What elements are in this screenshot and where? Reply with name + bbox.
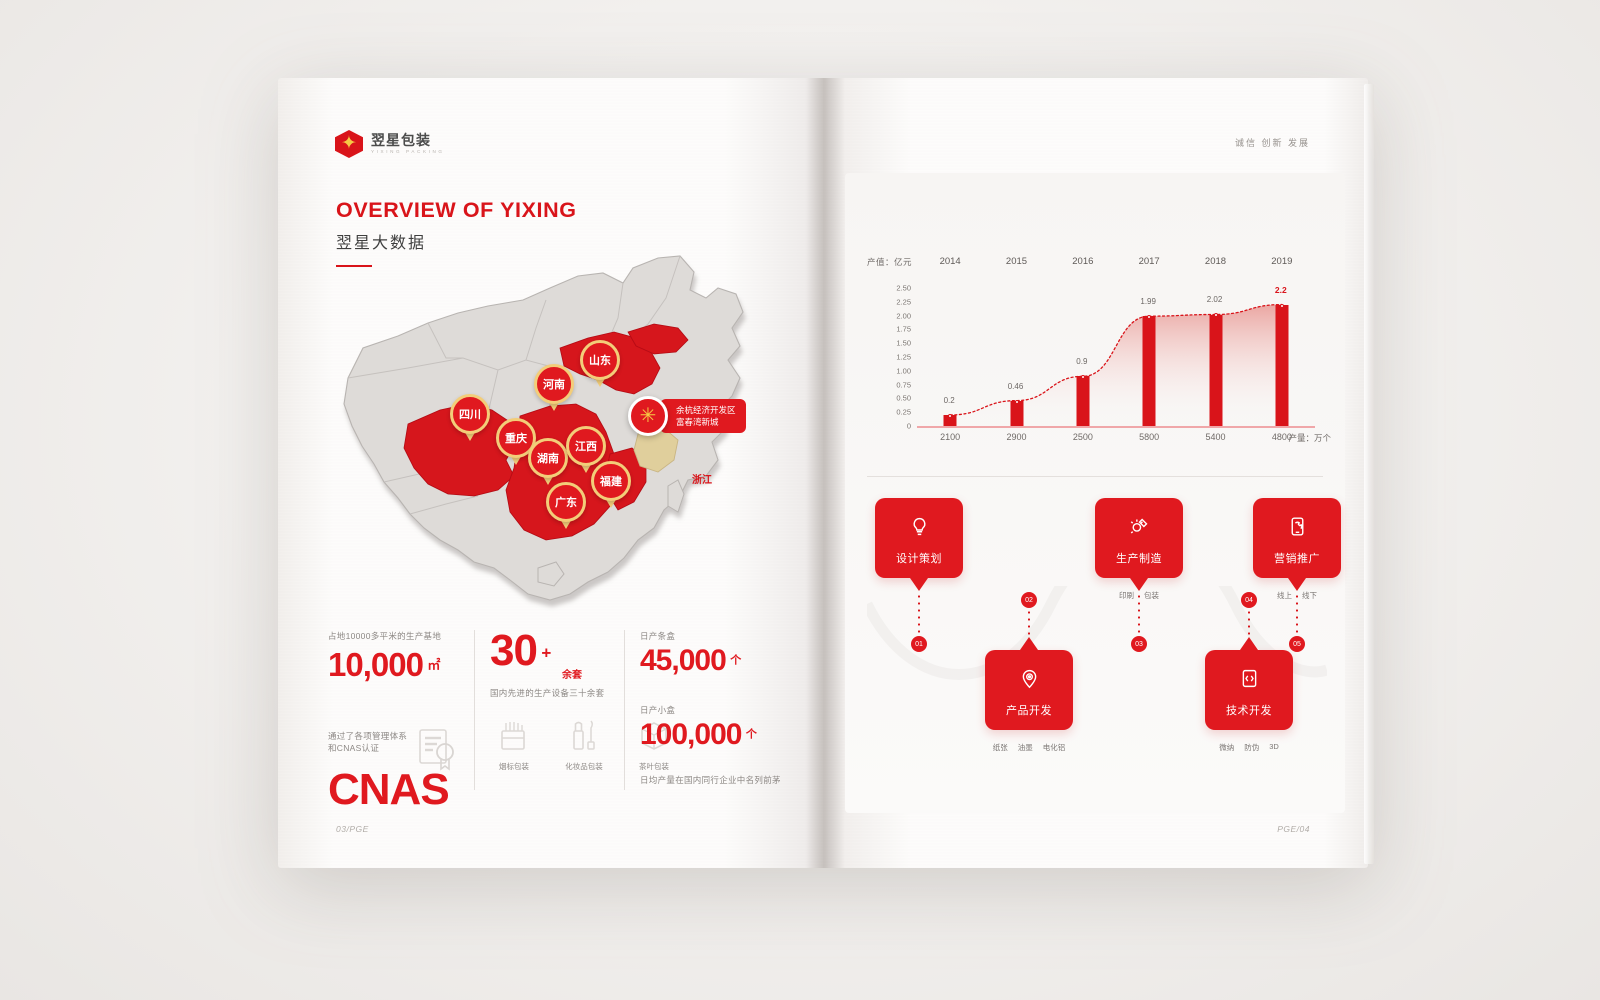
chart-bar-2015 xyxy=(1010,401,1023,426)
right-page: 诚信 创新 发展 产值：亿元 201420152016201720182019 … xyxy=(823,78,1368,868)
flow-connector xyxy=(1138,593,1140,637)
chart-ytick: 1.75 xyxy=(896,325,911,334)
china-map: 浙江 山东河南四川重庆湖南江西福建广东 ✳ 余杭经济开发区 富春湾新城 xyxy=(288,228,823,678)
chart-plot-area: 2.502.252.001.751.501.251.000.750.500.25… xyxy=(917,288,1315,426)
chart-value-label: 2.02 xyxy=(1207,295,1223,304)
stat-smallbox-caption: 日均产量在国内同行企业中名列前茅 xyxy=(640,774,800,786)
pin-label: 山东 xyxy=(589,352,611,368)
stat-smallbox-unit: 个 xyxy=(746,729,756,741)
flow-card-title: 产品开发 xyxy=(1006,702,1052,718)
pin-label: 河南 xyxy=(543,376,565,392)
stat-smallbox-value: 100,000 xyxy=(640,718,741,751)
pin-bubble: 江西 xyxy=(566,426,606,466)
code-document-icon xyxy=(1239,668,1260,695)
flow-card-03[interactable]: 生产制造 xyxy=(1095,498,1183,578)
pin-label: 福建 xyxy=(600,473,622,489)
stat-carton-value: 45,000 xyxy=(640,644,726,677)
product-label: 化妆品包装 xyxy=(560,761,608,772)
chart-ytick: 0 xyxy=(907,422,911,431)
flow-tag: 线上 xyxy=(1277,590,1292,601)
stat-equipment-caption: 国内先进的生产设备三十余套 xyxy=(490,687,620,699)
chart-point xyxy=(1081,375,1085,379)
pin-bubble: 湖南 xyxy=(528,438,568,478)
pin-label: 江西 xyxy=(575,438,597,454)
chart-year-2014: 2014 xyxy=(940,256,961,267)
chart-value-label: 0.46 xyxy=(1008,382,1024,391)
chart-ytick: 1.50 xyxy=(896,339,911,348)
left-page: ✦ 翌星包装 YIXING PACKING OVERVIEW OF YIXING… xyxy=(278,78,823,868)
flow-tag: 包装 xyxy=(1144,590,1159,601)
brand-name-cn: 翌星包装 xyxy=(371,133,445,147)
chart-ytick: 2.25 xyxy=(896,297,911,306)
chart-value-label: 0.9 xyxy=(1076,357,1087,366)
chart-point xyxy=(1214,313,1218,317)
chart-ytick: 1.00 xyxy=(896,366,911,375)
chart-ytick: 0.75 xyxy=(896,380,911,389)
chart-bar-2016 xyxy=(1076,376,1089,426)
map-pin-6[interactable]: 福建 xyxy=(591,461,631,501)
flow-card-05[interactable]: 营销推广 xyxy=(1253,498,1341,578)
chart-value-label: 0.2 xyxy=(944,396,955,405)
magazine-spread: ✦ 翌星包装 YIXING PACKING OVERVIEW OF YIXING… xyxy=(278,78,1368,868)
chart-value-label: 2.2 xyxy=(1275,285,1287,295)
chart-year-2019: 2019 xyxy=(1271,256,1292,267)
flow-step-number-03: 03 xyxy=(1131,636,1147,652)
target-pin-icon xyxy=(1019,668,1040,695)
chart-xlabel: 产量：万个 xyxy=(1288,432,1331,444)
flow-card-tags: 纸张油墨电化铝 xyxy=(993,742,1066,753)
page-number-left: 03/PGE xyxy=(336,824,369,834)
cigarette-pack-icon xyxy=(497,718,531,752)
stat-carton-kicker: 日产条盒 xyxy=(640,630,800,642)
map-pin-5[interactable]: 江西 xyxy=(566,426,606,466)
chart-year-2018: 2018 xyxy=(1205,256,1226,267)
flow-step-number-04: 04 xyxy=(1241,592,1257,608)
pin-label: 湖南 xyxy=(537,450,559,466)
flow-card-title: 设计策划 xyxy=(896,550,942,566)
flow-tag: 印刷 xyxy=(1119,590,1134,601)
pin-bubble: 广东 xyxy=(546,482,586,522)
cnas-badge: CNAS xyxy=(328,768,449,812)
flow-card-title: 技术开发 xyxy=(1226,702,1272,718)
page-edge xyxy=(1364,84,1374,864)
map-pin-4[interactable]: 湖南 xyxy=(528,438,568,478)
map-pin-7[interactable]: 广东 xyxy=(546,482,586,522)
pin-bubble: 四川 xyxy=(450,394,490,434)
tagline: 诚信 创新 发展 xyxy=(1235,136,1310,149)
chart-value-label: 1.99 xyxy=(1140,297,1156,306)
lightbulb-icon xyxy=(909,516,930,543)
chart-year-2017: 2017 xyxy=(1139,256,1160,267)
province-label-zhejiang: 浙江 xyxy=(692,471,712,486)
chart-quantity-2018: 5400 xyxy=(1205,432,1225,442)
certificate-seal-icon xyxy=(414,726,460,772)
chart-quantity-2017: 5800 xyxy=(1139,432,1159,442)
flow-tag: 油墨 xyxy=(1018,742,1033,753)
brand-logo: ✦ 翌星包装 YIXING PACKING xyxy=(335,130,445,158)
pin-label: 重庆 xyxy=(505,430,527,446)
stat-equipment-value: 30 xyxy=(490,626,537,675)
chart-axis xyxy=(917,426,1315,428)
chart-point xyxy=(1280,304,1284,308)
flow-tag: 防伪 xyxy=(1244,742,1259,753)
product-item: 化妆品包装 xyxy=(560,718,608,772)
stat-daily: 日产条盒 45,000 个 日产小盒 100,000 个 日均产量在国内同行企业… xyxy=(640,630,800,786)
stat-carton-unit: 个 xyxy=(730,655,740,667)
pin-label: 广东 xyxy=(555,494,577,510)
stat-area-kicker: 占地10000多平米的生产基地 xyxy=(328,630,468,642)
chart-bar-2017 xyxy=(1143,316,1156,426)
process-flow: 设计策划01产品开发纸张油墨电化铝02生产制造印刷包装03技术开发微纳防伪3D0… xyxy=(867,498,1327,798)
brand-name-en: YIXING PACKING xyxy=(371,150,445,155)
stat-equipment: 30 + 余套 国内先进的生产设备三十余套 xyxy=(490,630,620,699)
flow-step-number-01: 01 xyxy=(911,636,927,652)
chart-year-2015: 2015 xyxy=(1006,256,1027,267)
chart-ylabel: 产值：亿元 xyxy=(867,256,912,268)
hq-label-line1: 余杭经济开发区 xyxy=(676,404,736,416)
flow-card-01[interactable]: 设计策划 xyxy=(875,498,963,578)
chart-ytick: 0.50 xyxy=(896,394,911,403)
pin-label: 四川 xyxy=(459,406,481,422)
hq-label: 余杭经济开发区 富春湾新城 xyxy=(660,399,746,434)
hq-marker[interactable]: ✳ 余杭经济开发区 富春湾新城 xyxy=(628,396,746,436)
chart-trend-area xyxy=(917,288,1315,426)
chart-ytick: 2.00 xyxy=(896,311,911,320)
chart-point xyxy=(1147,315,1151,319)
chart-bar-2019 xyxy=(1275,305,1288,426)
stat-area: 占地10000多平米的生产基地 10,000 ㎡ 通过了各项管理体系 和CNAS… xyxy=(328,630,468,684)
flow-connector xyxy=(1296,593,1298,637)
flow-connector xyxy=(1248,602,1250,646)
flow-tag: 微纳 xyxy=(1219,742,1234,753)
gear-tools-icon xyxy=(1129,516,1150,543)
lipstick-icon xyxy=(567,718,601,752)
pin-bubble: 河南 xyxy=(534,364,574,404)
chart-ytick: 0.25 xyxy=(896,408,911,417)
chart-quantity-2016: 2500 xyxy=(1073,432,1093,442)
star-burst-icon: ✳ xyxy=(628,396,668,436)
hq-label-line2: 富春湾新城 xyxy=(676,416,736,428)
flow-card-tags: 微纳防伪3D xyxy=(1219,742,1279,753)
stat-equipment-plus: + xyxy=(541,644,550,663)
flow-card-title: 生产制造 xyxy=(1116,550,1162,566)
chart-point xyxy=(948,414,952,418)
flow-card-title: 营销推广 xyxy=(1274,550,1320,566)
page-number-right: PGE/04 xyxy=(1277,824,1310,834)
map-pin-1[interactable]: 河南 xyxy=(534,364,574,404)
flow-step-number-05: 05 xyxy=(1289,636,1305,652)
stat-area-value: 10,000 xyxy=(328,646,423,683)
flow-card-notch xyxy=(910,578,928,591)
flow-card-02[interactable]: 产品开发 xyxy=(985,650,1073,730)
stats-divider-1 xyxy=(474,630,475,790)
phone-call-icon xyxy=(1287,516,1308,543)
flow-connector xyxy=(918,593,920,637)
page-title-en: OVERVIEW OF YIXING xyxy=(336,198,577,223)
chart-ytick: 1.25 xyxy=(896,353,911,362)
chart-quantity-2015: 2900 xyxy=(1006,432,1026,442)
flow-tag: 3D xyxy=(1269,742,1279,753)
flow-connector xyxy=(1028,602,1030,646)
production-chart: 产值：亿元 201420152016201720182019 2.502.252… xyxy=(867,256,1327,461)
flow-tag: 电化铝 xyxy=(1043,742,1066,753)
chart-bar-2018 xyxy=(1209,315,1222,427)
product-item: 烟标包装 xyxy=(490,718,538,772)
map-pin-0[interactable]: 山东 xyxy=(580,340,620,380)
product-label: 烟标包装 xyxy=(490,761,538,772)
pin-bubble: 福建 xyxy=(591,461,631,501)
chart-point xyxy=(1015,400,1019,404)
chart-quantity-2014: 2100 xyxy=(940,432,960,442)
flow-tag: 线下 xyxy=(1302,590,1317,601)
stat-smallbox-kicker: 日产小盒 xyxy=(640,704,800,716)
map-pin-2[interactable]: 四川 xyxy=(450,394,490,434)
chart-ytick: 2.50 xyxy=(896,284,911,293)
flow-tag: 纸张 xyxy=(993,742,1008,753)
flow-step-number-02: 02 xyxy=(1021,592,1037,608)
flow-card-04[interactable]: 技术开发 xyxy=(1205,650,1293,730)
section-divider xyxy=(867,476,1323,477)
stat-area-unit: ㎡ xyxy=(427,658,439,673)
chart-year-2016: 2016 xyxy=(1072,256,1093,267)
hexagon-star-logo: ✦ xyxy=(335,130,363,158)
pin-bubble: 山东 xyxy=(580,340,620,380)
stats-section: 占地10000多平米的生产基地 10,000 ㎡ 通过了各项管理体系 和CNAS… xyxy=(328,630,788,800)
